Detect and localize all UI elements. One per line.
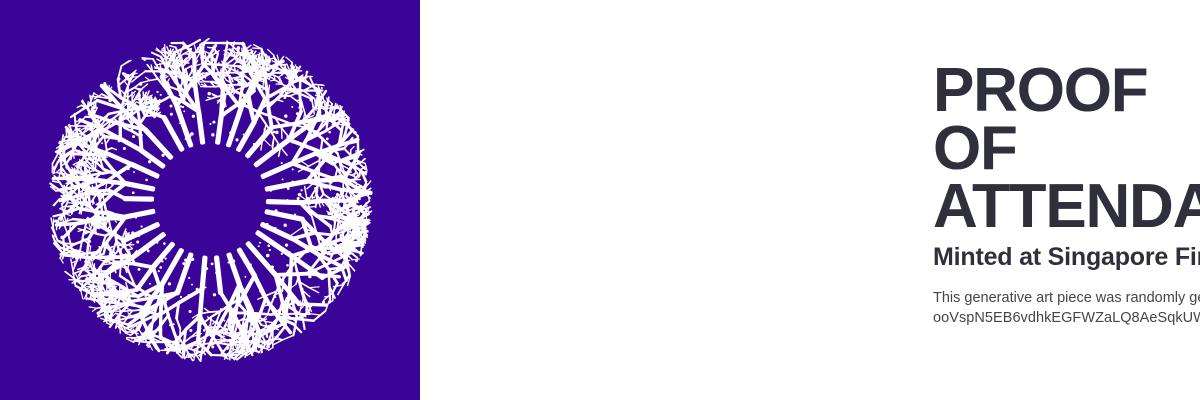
generative-art-panel: [0, 0, 420, 400]
certificate-text-panel: PROOF OF ATTENDANCE Minted at Singapore …: [420, 0, 1200, 400]
art-core-void: [154, 144, 266, 256]
description-block: This generative art piece was randomly g…: [933, 288, 1200, 328]
subtitle-minted-at: Minted at Singapore Fintech Festival 202…: [933, 242, 1200, 272]
proof-of-attendance-certificate: PROOF OF ATTENDANCE Minted at Singapore …: [0, 0, 1200, 400]
description-intro-text: This generative art piece was randomly g…: [933, 288, 1200, 308]
page-title: PROOF OF ATTENDANCE Minted at Singapore …: [933, 62, 1200, 272]
title-line-of: OF: [933, 120, 1200, 178]
title-line-attendance: ATTENDANCE: [933, 178, 1200, 236]
generative-art-image: [0, 0, 420, 400]
title-line-proof: PROOF: [933, 62, 1200, 120]
transaction-hash-value: ooVspN5EB6vdhkEGFWZaLQ8AeSqkUWYdh8tGoRjs…: [933, 308, 1200, 328]
